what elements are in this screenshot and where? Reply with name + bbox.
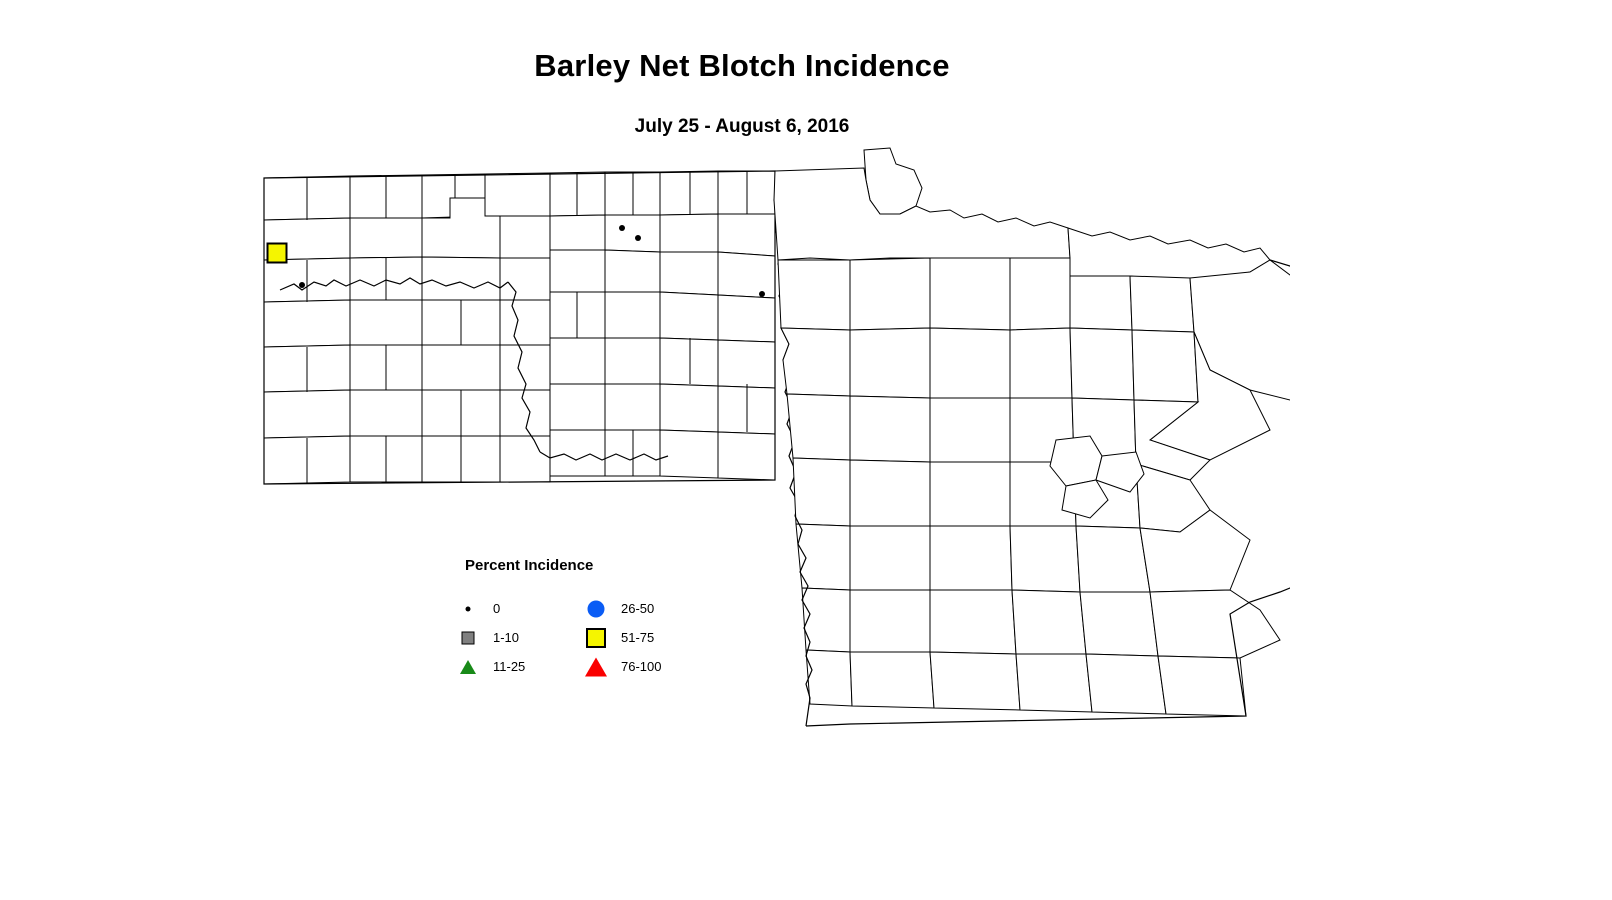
legend-title: Percent Incidence (465, 557, 593, 574)
observation-marker[interactable] (615, 221, 629, 235)
legend-item-11-25[interactable]: 11-25 (455, 652, 525, 681)
page-title: Barley Net Blotch Incidence (0, 48, 1484, 84)
legend-item-0[interactable]: 0 (455, 594, 525, 623)
legend-item-76-100[interactable]: 76-100 (583, 652, 661, 681)
legend-column-left: 0 1-10 11-25 (455, 594, 525, 681)
blue-circle-icon (583, 596, 609, 622)
observation-marker[interactable] (631, 231, 645, 245)
legend-item-label: 1-10 (493, 630, 519, 645)
legend-item-label: 0 (493, 601, 500, 616)
legend-item-1-10[interactable]: 1-10 (455, 623, 525, 652)
green-triangle-icon (455, 654, 481, 680)
state-county-map (250, 140, 1290, 765)
page-subtitle: July 25 - August 6, 2016 (0, 116, 1484, 138)
black-dot-symbol (759, 291, 765, 297)
map-page: Barley Net Blotch Incidence July 25 - Au… (0, 0, 1612, 900)
legend-item-label: 76-100 (621, 659, 661, 674)
legend-item-label: 26-50 (621, 601, 654, 616)
map-canvas (250, 140, 1290, 765)
legend-item-label: 51-75 (621, 630, 654, 645)
legend-column-right: 26-50 51-75 76-100 (583, 594, 661, 681)
black-dot-icon (455, 596, 481, 622)
legend-item-label: 11-25 (493, 659, 525, 674)
red-triangle-icon (583, 654, 609, 680)
observation-marker[interactable] (755, 287, 769, 301)
black-dot-symbol (619, 225, 625, 231)
observation-marker[interactable] (267, 243, 287, 263)
yellow-square-symbol (267, 243, 288, 264)
legend-item-26-50[interactable]: 26-50 (583, 594, 661, 623)
legend-item-51-75[interactable]: 51-75 (583, 623, 661, 652)
gray-square-icon (455, 625, 481, 651)
black-dot-symbol (635, 235, 641, 241)
black-dot-symbol (299, 282, 305, 288)
north-dakota-counties (264, 171, 775, 484)
yellow-square-icon (583, 625, 609, 651)
legend: Percent Incidence 0 1-10 11-25 (455, 552, 715, 682)
observation-marker[interactable] (295, 278, 309, 292)
minnesota-counties (774, 148, 1290, 716)
